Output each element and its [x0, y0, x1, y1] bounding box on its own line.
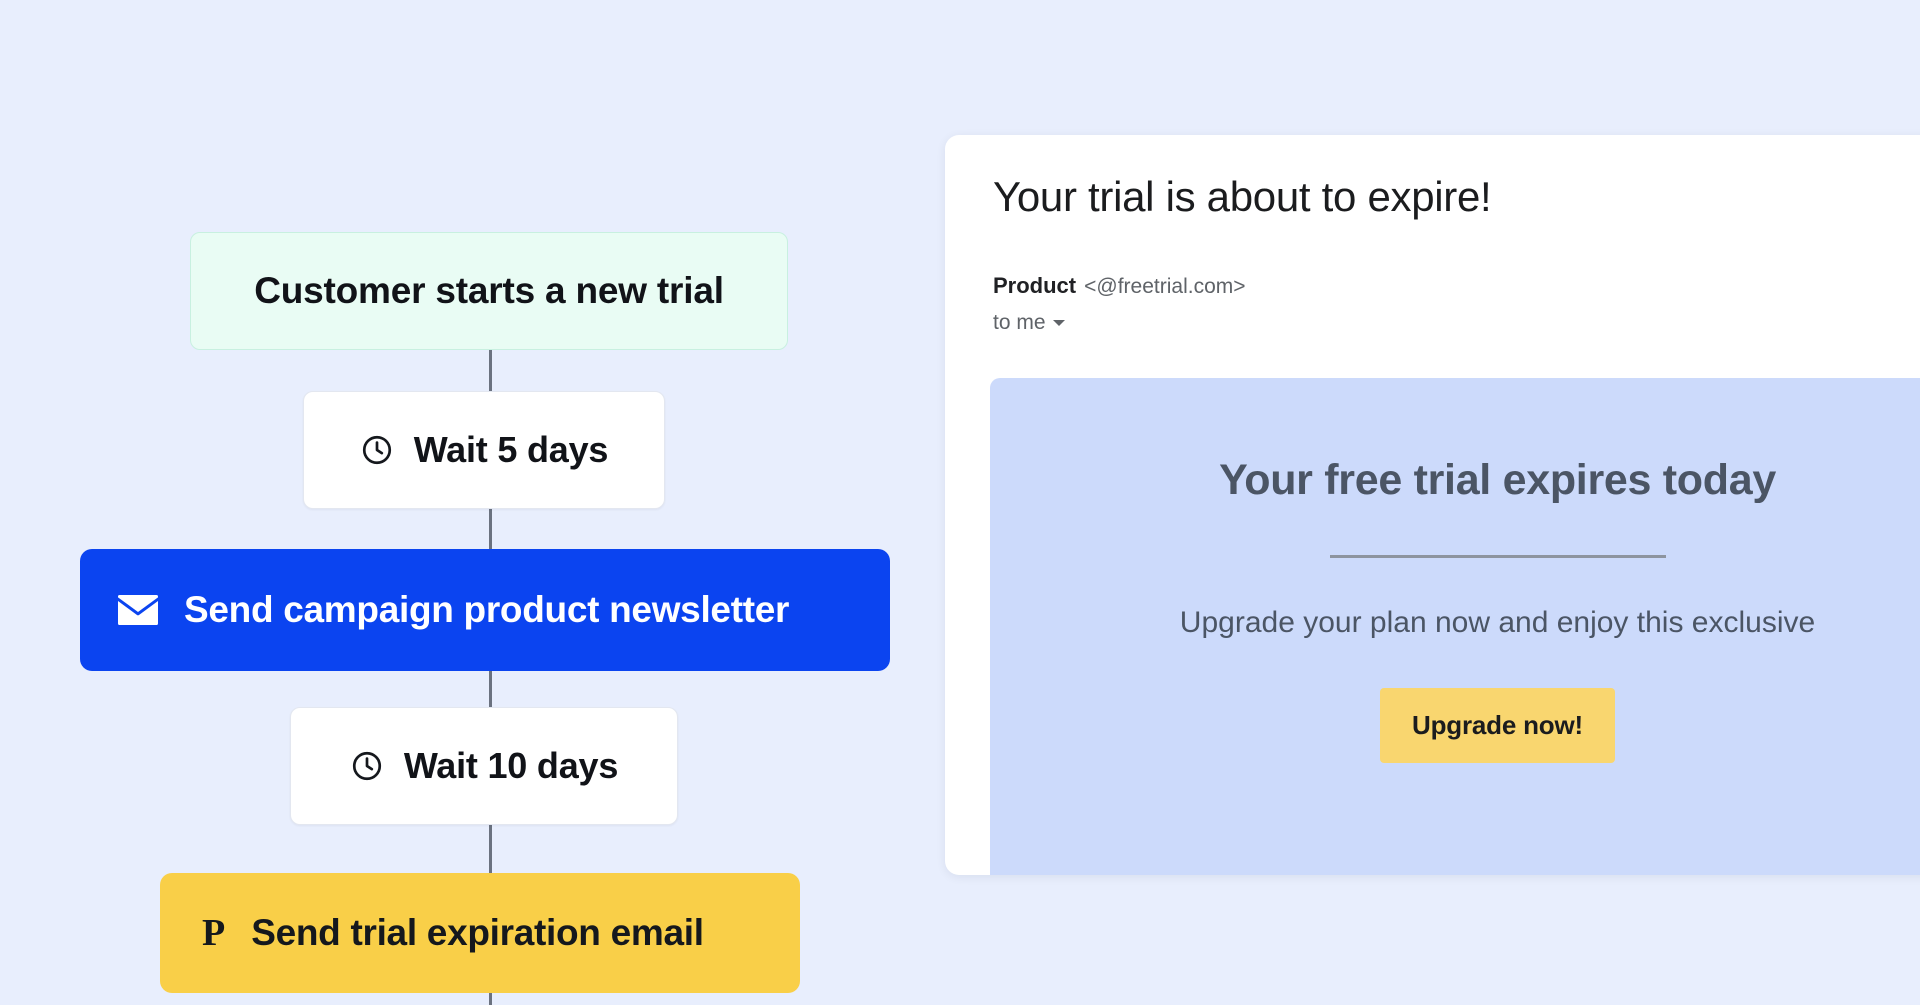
- email-meta: Product <@freetrial.com> to me 9:14 AM (…: [993, 273, 1920, 335]
- workflow-node-wait-10-days-label: Wait 10 days: [404, 745, 618, 787]
- email-subject: Your trial is about to expire!: [993, 173, 1491, 221]
- email-preview-card: Your trial is about to expire! Product <…: [945, 135, 1920, 875]
- workflow-node-send-newsletter[interactable]: Send campaign product newsletter: [80, 549, 890, 671]
- email-recipient-line[interactable]: to me: [993, 311, 1920, 335]
- workflow-node-wait-10-days[interactable]: Wait 10 days: [290, 707, 678, 825]
- clock-icon: [360, 433, 394, 467]
- connector-product-to-next: [489, 993, 492, 1005]
- email-sender-address: <@freetrial.com>: [1084, 275, 1245, 299]
- chevron-down-icon[interactable]: [1053, 320, 1065, 326]
- workflow-node-send-trial-expiration-email[interactable]: P Send trial expiration email: [160, 873, 800, 993]
- workflow-node-trigger[interactable]: Customer starts a new trial: [190, 232, 788, 350]
- connector-trigger-to-wait1: [489, 350, 492, 391]
- email-sender-line: Product <@freetrial.com>: [993, 273, 1920, 299]
- workflow-node-wait-5-days[interactable]: Wait 5 days: [303, 391, 665, 509]
- workflow-node-send-trial-expiration-email-label: Send trial expiration email: [251, 912, 704, 954]
- email-body-text: Upgrade your plan now and enjoy this exc…: [990, 558, 1920, 640]
- connector-wait2-to-product: [489, 825, 492, 873]
- workflow-node-send-newsletter-label: Send campaign product newsletter: [184, 589, 789, 631]
- envelope-icon: [118, 595, 158, 625]
- email-recipient-text: to me: [993, 311, 1046, 335]
- email-body-panel: Your free trial expires today Upgrade yo…: [990, 378, 1920, 875]
- email-body-headline: Your free trial expires today: [990, 378, 1920, 505]
- connector-email-to-wait2: [489, 671, 492, 707]
- workflow-diagram: Customer starts a new trial Wait 5 days …: [0, 0, 900, 1005]
- workflow-node-trigger-label: Customer starts a new trial: [254, 270, 724, 312]
- workflow-node-wait-5-days-label: Wait 5 days: [414, 429, 609, 471]
- upgrade-now-button[interactable]: Upgrade now!: [1380, 688, 1615, 763]
- email-subject-row: Your trial is about to expire!: [993, 173, 1920, 221]
- email-sender-name: Product: [993, 273, 1076, 299]
- clock-icon: [350, 749, 384, 783]
- connector-wait1-to-email: [489, 509, 492, 549]
- product-p-icon: P: [202, 914, 225, 952]
